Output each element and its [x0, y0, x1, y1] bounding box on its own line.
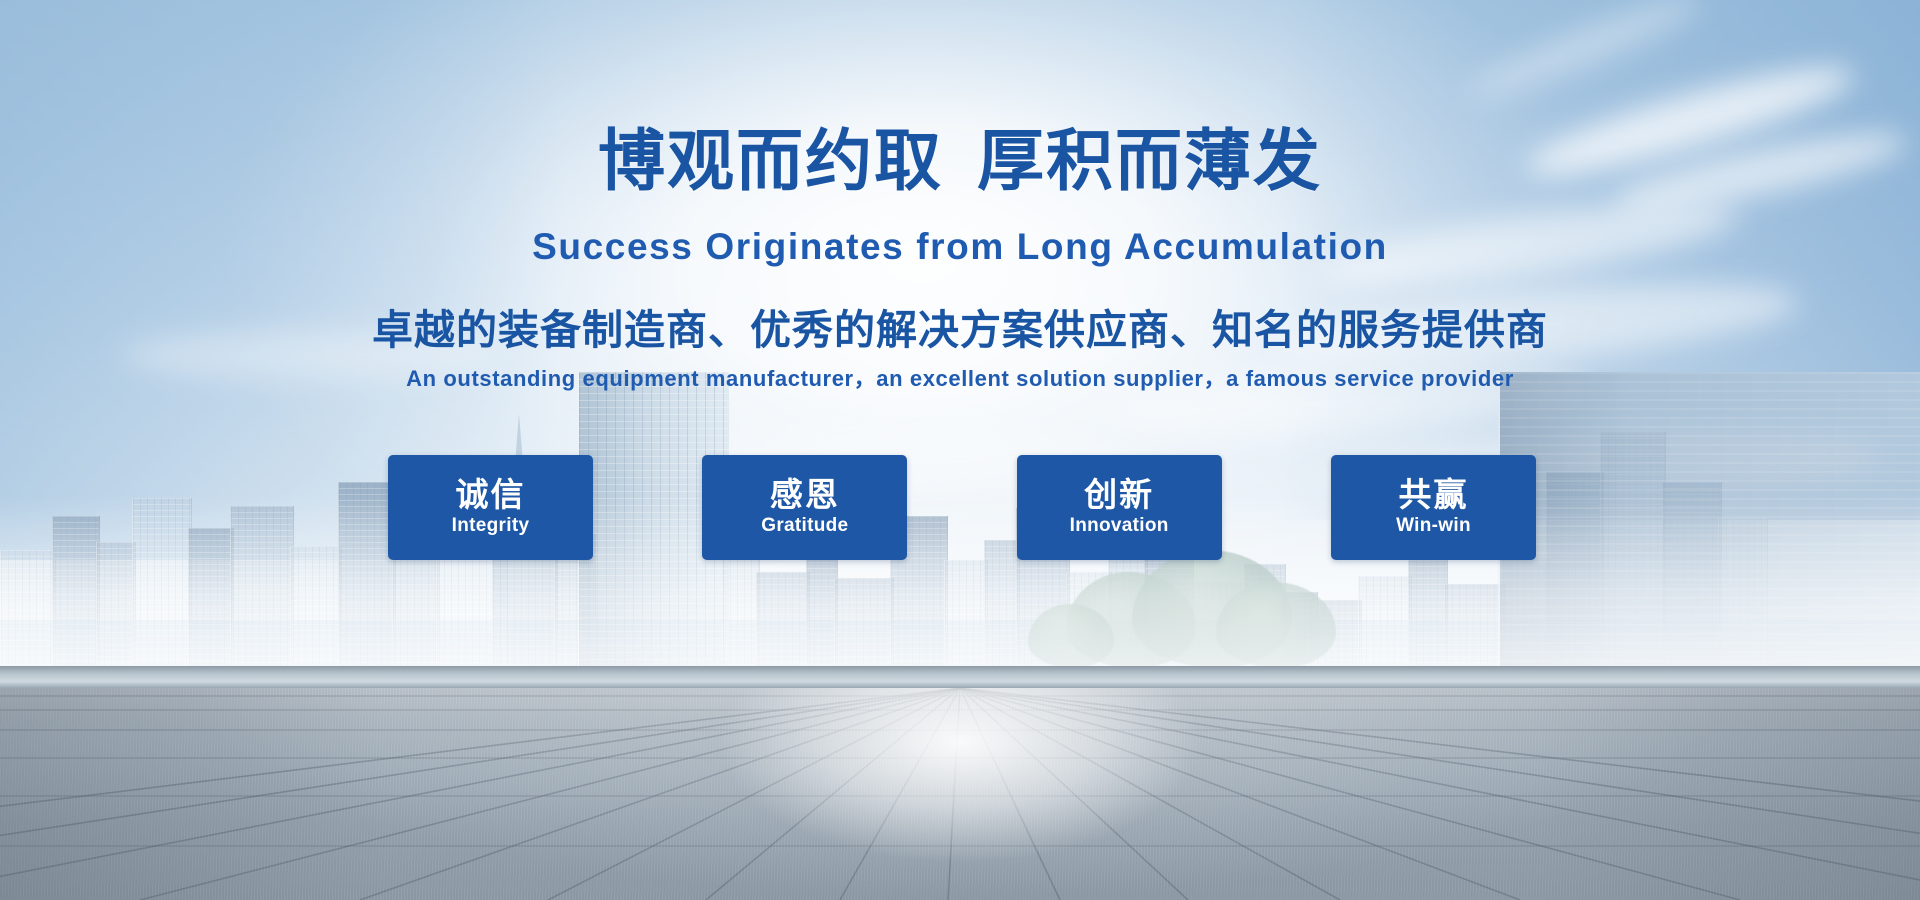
headline-chinese-part1: 博观而约取: [598, 124, 943, 199]
value-box-integrity-cn: 诚信: [456, 478, 526, 513]
value-box-integrity-en: Integrity: [452, 516, 530, 537]
value-box-integrity[interactable]: 诚信 Integrity: [388, 455, 593, 560]
value-box-gratitude[interactable]: 感恩 Gratitude: [702, 455, 907, 560]
headline-chinese-part2: 厚积而薄发: [977, 124, 1322, 199]
value-box-gratitude-cn: 感恩: [770, 478, 840, 513]
value-box-gratitude-en: Gratitude: [761, 516, 848, 537]
value-box-winwin-cn: 共赢: [1398, 478, 1468, 513]
core-values-row: 诚信 Integrity 感恩 Gratitude 创新 Innovation …: [388, 455, 1536, 560]
value-box-innovation[interactable]: 创新 Innovation: [1017, 455, 1222, 560]
subtitle-english: An outstanding equipment manufacturer，an…: [0, 368, 1920, 390]
hero-banner: 博观而约取厚积而薄发 Success Originates from Long …: [0, 0, 1920, 900]
banner-content: 博观而约取厚积而薄发 Success Originates from Long …: [0, 0, 1920, 900]
headline-chinese: 博观而约取厚积而薄发: [0, 128, 1920, 195]
subtitle-chinese: 卓越的装备制造商、优秀的解决方案供应商、知名的服务提供商: [0, 310, 1920, 351]
value-box-winwin-en: Win-win: [1396, 516, 1471, 537]
headline-english: Success Originates from Long Accumulatio…: [0, 228, 1920, 265]
value-box-innovation-cn: 创新: [1084, 478, 1154, 513]
value-box-winwin[interactable]: 共赢 Win-win: [1331, 455, 1536, 560]
value-box-innovation-en: Innovation: [1070, 516, 1169, 537]
